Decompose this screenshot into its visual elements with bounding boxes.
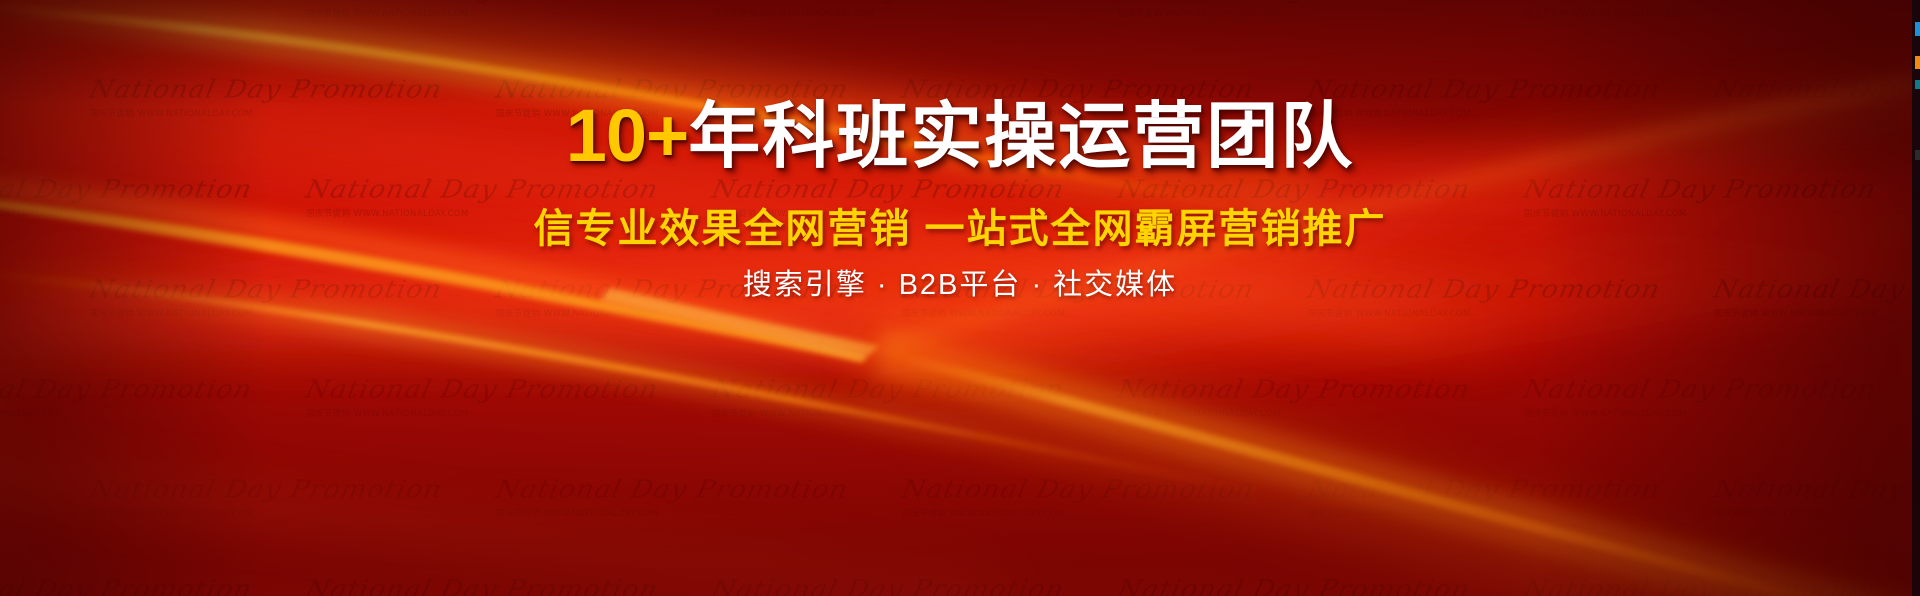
- edge-mark-teal: [1915, 80, 1920, 89]
- banner-content: 10+年科班实操运营团队 信专业效果全网营销 一站式全网霸屏营销推广 搜索引擎 …: [0, 0, 1920, 596]
- tagline: 搜索引擎 · B2B平台 · 社交媒体: [0, 261, 1920, 303]
- subheadline: 信专业效果全网营销 一站式全网霸屏营销推广: [0, 196, 1920, 254]
- headline: 10+年科班实操运营团队: [0, 99, 1920, 173]
- edge-mark-orange: [1915, 56, 1920, 69]
- right-edge-strip: [1912, 0, 1920, 596]
- promo-banner: National Day Promotion国庆节促销 WWW.NATIONAL…: [0, 0, 1920, 596]
- edge-mark-blue: [1915, 22, 1920, 36]
- edge-mark-dark: [1915, 150, 1920, 160]
- headline-main: 年科班实操运营团队: [688, 97, 1354, 177]
- headline-highlight: 10+: [566, 94, 689, 177]
